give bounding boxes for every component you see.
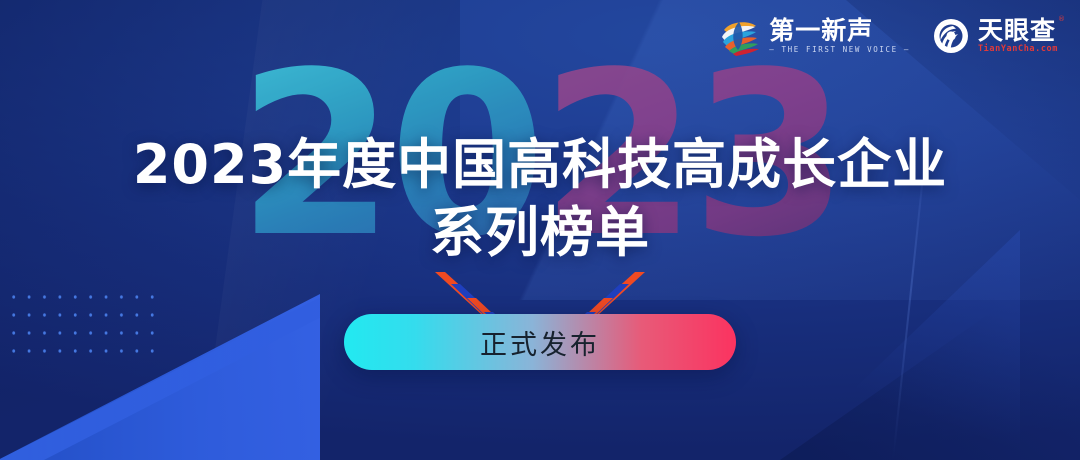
trademark-icon: ® xyxy=(1058,15,1065,23)
release-badge-label: 正式发布 xyxy=(480,323,600,362)
poster-title: 2023年度中国高科技高成长企业 系列榜单 xyxy=(0,134,1080,264)
logo-first-voice-text: 第一新声 — THE FIRST NEW VOICE — xyxy=(769,17,910,55)
title-line-1: 2023年度中国高科技高成长企业 xyxy=(0,134,1080,196)
logo-tianyancha-name: 天眼查 xyxy=(978,17,1058,44)
poster-banner: 2023 2023年度中国高科技高成长企业 系列榜单 正式发布 xyxy=(0,0,1080,460)
eye-aperture-logo-icon xyxy=(932,17,970,55)
logo-first-voice[interactable]: 第一新声 — THE FIRST NEW VOICE — xyxy=(717,16,910,56)
title-line-2: 系列榜单 xyxy=(0,202,1080,264)
logo-first-voice-name: 第一新声 xyxy=(769,17,910,44)
release-badge[interactable]: 正式发布 xyxy=(344,314,736,370)
logo-first-voice-tagline: — THE FIRST NEW VOICE — xyxy=(769,44,910,55)
swirl-ribbon-logo-icon xyxy=(717,16,761,56)
logo-tianyancha[interactable]: ® 天眼查 TianYanCha.com xyxy=(932,17,1058,55)
logo-tianyancha-text: ® 天眼查 TianYanCha.com xyxy=(978,17,1058,55)
dot-grid-pattern xyxy=(6,288,161,360)
logo-tianyancha-domain: TianYanCha.com xyxy=(978,44,1058,55)
logo-bar: 第一新声 — THE FIRST NEW VOICE — ® 天眼查 TianY… xyxy=(717,12,1058,60)
